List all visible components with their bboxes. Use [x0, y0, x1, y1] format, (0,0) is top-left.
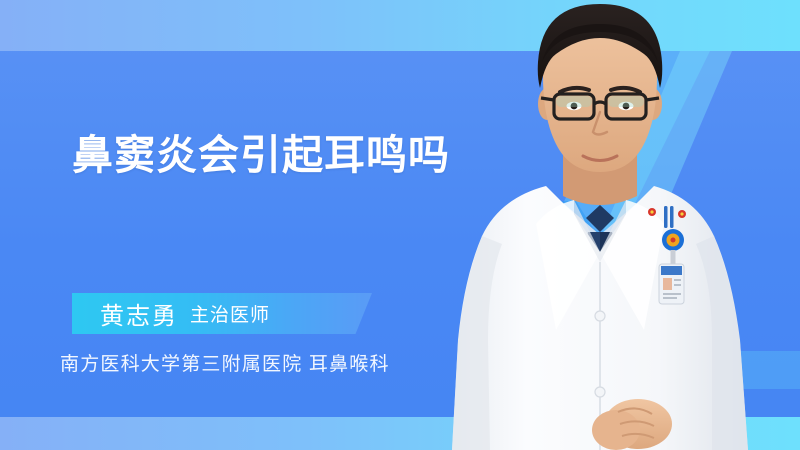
doctor-topic-banner: 鼻窦炎会引起耳鸣吗 黄志勇 主治医师 南方医科大学第三附属医院 耳鼻喉科 — [0, 0, 800, 450]
page-title: 鼻窦炎会引起耳鸣吗 — [72, 126, 492, 184]
doctor-name: 黄志勇 — [100, 296, 178, 331]
doctor-portrait — [430, 0, 770, 450]
doctor-title: 主治医师 — [190, 300, 270, 327]
doctor-affiliation: 南方医科大学第三附属医院 耳鼻喉科 — [60, 349, 390, 376]
id-badge-icon — [659, 229, 684, 304]
doctor-name-bar: 黄志勇 主治医师 — [72, 293, 372, 334]
name-bar-text: 黄志勇 主治医师 — [100, 293, 270, 334]
